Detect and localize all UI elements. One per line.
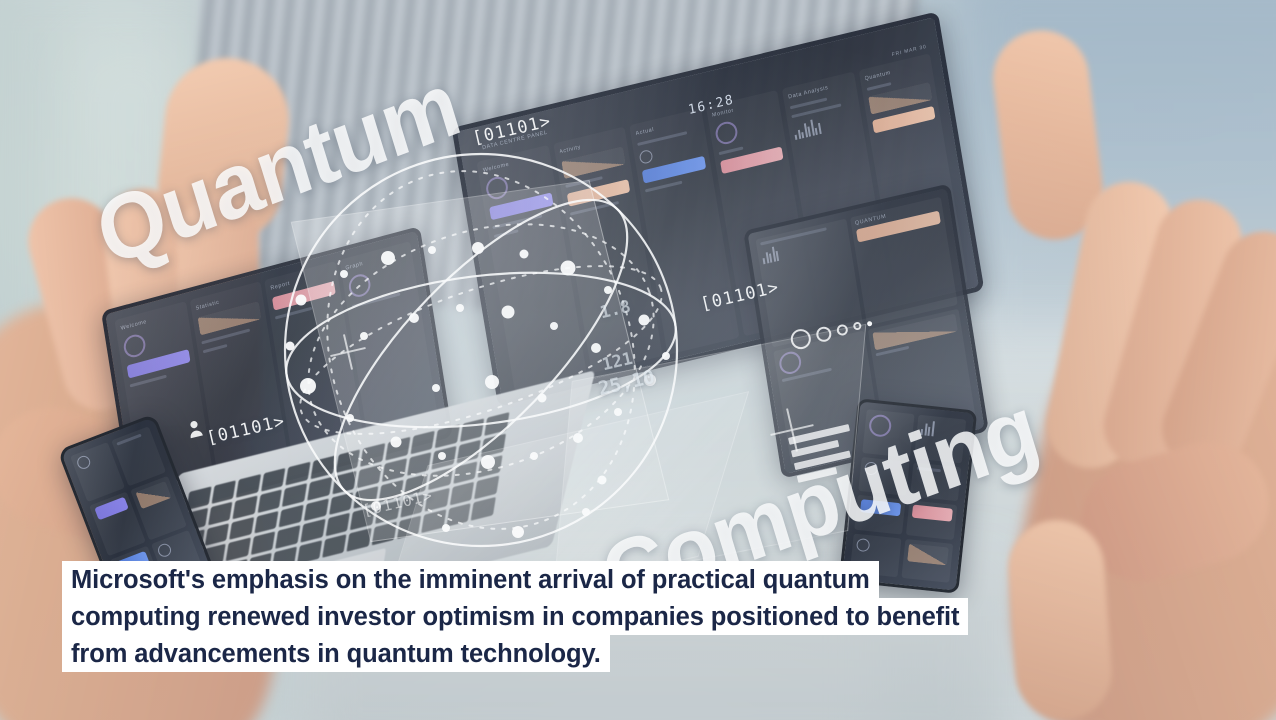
- tablet-column-label: Quantum: [864, 61, 927, 82]
- laptop-bar: [202, 344, 227, 354]
- caption-line: computing renewed investor optimism in c…: [62, 598, 968, 635]
- tablet-column-label: Data Analysis: [788, 80, 851, 101]
- caption-block: Microsoft's emphasis on the imminent arr…: [62, 561, 968, 672]
- phone-bar: [116, 434, 141, 446]
- phone-chip: [94, 497, 129, 521]
- tablet-bar: [866, 82, 891, 91]
- area-chart-icon: [135, 481, 171, 509]
- gauge-ring-icon: [75, 454, 92, 471]
- caption-line: from advancements in quantum technology.: [62, 635, 610, 672]
- screenshot-canvas: DATA CENTRE PANEL 16:28 FRI MAR 30 Welco…: [0, 0, 1276, 720]
- tablet-bar: [718, 146, 743, 155]
- tablet-column-label: Actual: [635, 116, 698, 137]
- caption-line: Microsoft's emphasis on the imminent arr…: [62, 561, 879, 598]
- progress-ring-icon: [156, 542, 173, 559]
- gauge-ring-icon: [122, 332, 147, 360]
- progress-ring-icon: [714, 120, 739, 147]
- laptop-panel-label: Welcome: [120, 309, 182, 331]
- widget-cell[interactable]: QUANTUM: [850, 197, 958, 326]
